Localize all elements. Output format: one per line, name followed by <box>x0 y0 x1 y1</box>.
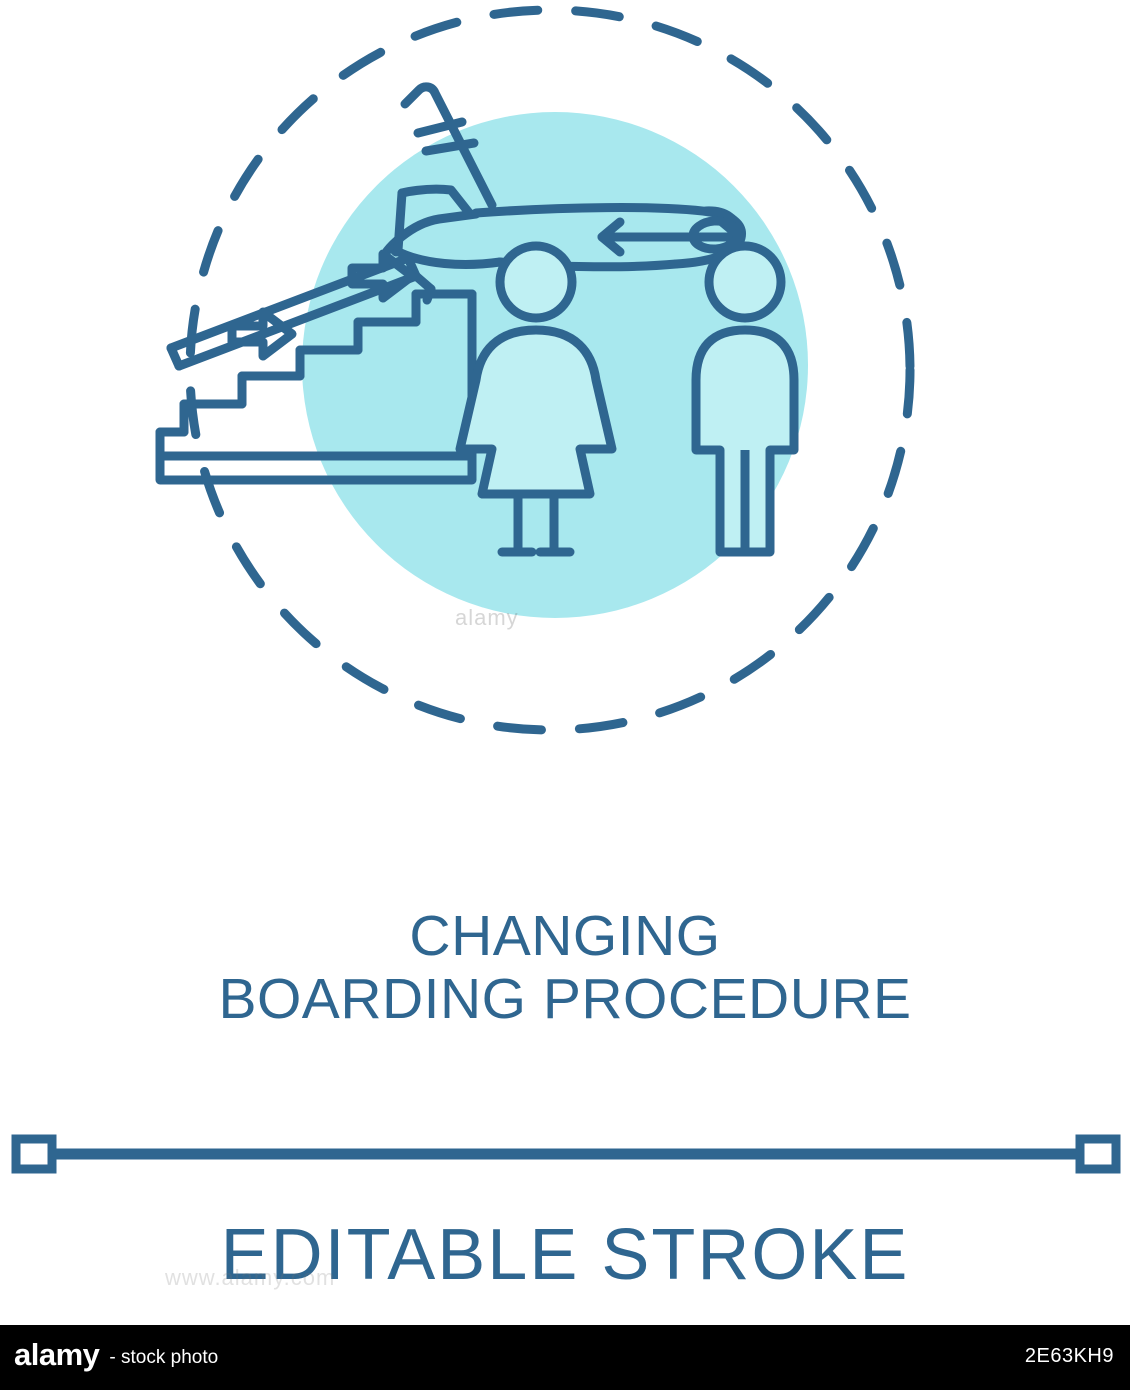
footer-brand: alamy - stock photo <box>14 1337 218 1373</box>
concept-icon <box>140 0 960 760</box>
title-line-1: Changing <box>0 905 1130 968</box>
footer-image-id: 2E63KH9 <box>1025 1345 1114 1368</box>
concept-title: Changing Boarding Procedure <box>0 905 1130 1031</box>
alamy-logo: alamy <box>14 1337 99 1373</box>
illustration-canvas: Changing Boarding Procedure Editable str… <box>0 0 1130 1390</box>
editable-stroke-label: Editable stroke <box>0 1215 1130 1295</box>
editable-stroke-bar-icon <box>10 1133 1122 1175</box>
title-line-2: Boarding Procedure <box>0 968 1130 1031</box>
footer-bar: alamy - stock photo 2E63KH9 <box>0 1325 1130 1390</box>
footer-subtitle: - stock photo <box>109 1341 218 1369</box>
